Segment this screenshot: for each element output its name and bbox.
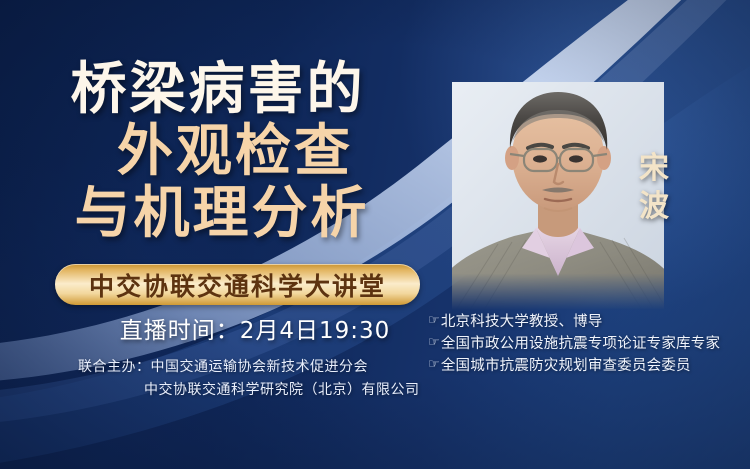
credential-text: 全国城市抗震防灾规划审查委员会委员: [441, 355, 691, 377]
live-time-text: 直播时间：2月4日19:30: [55, 311, 455, 345]
title-line-1: 桥梁病害的: [0, 62, 430, 118]
series-banner: 中交协联交通科学大讲堂: [55, 264, 420, 305]
poster-title: 桥梁病害的 外观检查 与机理分析: [0, 62, 430, 242]
speaker-credentials: ☞ 北京科技大学教授、博导 ☞ 全国市政公用设施抗震专项论证专家库专家 ☞ 全国…: [428, 311, 748, 377]
credential-text: 全国市政公用设施抗震专项论证专家库专家: [441, 333, 720, 355]
speaker-name-char-2: 波: [632, 188, 678, 226]
title-line-2: 外观检查: [0, 124, 430, 180]
credential-item: ☞ 全国市政公用设施抗震专项论证专家库专家: [428, 333, 748, 355]
pointing-hand-icon: ☞: [428, 311, 440, 331]
webinar-poster: 桥梁病害的 外观检查 与机理分析 中交协联交通科学大讲堂 直播时间：2月4日19…: [0, 0, 750, 469]
title-line-3: 与机理分析: [0, 186, 430, 242]
organizer-line-1: 联合主办：中国交通运输协会新技术促进分会: [78, 356, 458, 379]
organizer-block: 联合主办：中国交通运输协会新技术促进分会 中交协联交通科学研究院（北京）有限公司: [78, 356, 458, 402]
credential-item: ☞ 全国城市抗震防灾规划审查委员会委员: [428, 355, 748, 377]
credential-item: ☞ 北京科技大学教授、博导: [428, 311, 748, 333]
series-banner-label: 中交协联交通科学大讲堂: [89, 267, 386, 303]
pointing-hand-icon: ☞: [428, 333, 440, 353]
pointing-hand-icon: ☞: [428, 355, 440, 375]
speaker-name-char-1: 宋: [632, 150, 678, 188]
speaker-name: 宋 波: [632, 150, 678, 225]
credential-text: 北京科技大学教授、博导: [441, 311, 603, 333]
organizer-line-2: 中交协联交通科学研究院（北京）有限公司: [78, 379, 458, 402]
